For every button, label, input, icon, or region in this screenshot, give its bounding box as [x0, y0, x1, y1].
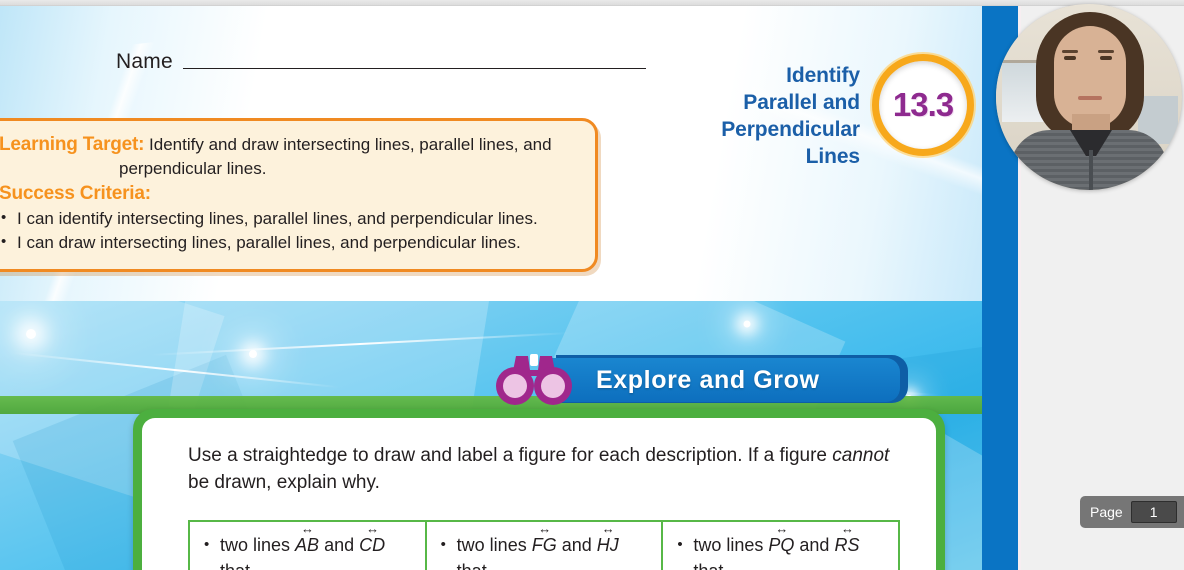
success-criteria-heading: Success Criteria:: [0, 183, 573, 205]
box-prefix: two lines: [220, 535, 295, 555]
activity-box-row: two lines AB and CD that two lines FG an…: [188, 520, 900, 570]
explore-activity-inner: Use a straightedge to draw and label a f…: [142, 418, 936, 570]
lesson-viewer: Name Identify Parallel and Perpendicular…: [0, 0, 1184, 570]
line-name-a: PQ: [768, 535, 794, 555]
lesson-number-badge: 13.3: [872, 54, 974, 156]
activity-box[interactable]: two lines FG and HJ that: [427, 522, 664, 570]
success-criteria-list: I can identify intersecting lines, paral…: [0, 207, 573, 255]
learning-target-text: Identify and draw intersecting lines, pa…: [119, 135, 552, 178]
success-criteria-item: I can draw intersecting lines, parallel …: [0, 231, 573, 255]
bg-sparkle: [249, 350, 257, 358]
bg-sparkle: [744, 321, 751, 328]
activity-box-line-continued: that: [441, 558, 654, 570]
lesson-title-line: Identify: [560, 62, 860, 89]
activity-box[interactable]: two lines AB and CD that: [190, 522, 427, 570]
box-prefix: two lines: [693, 535, 768, 555]
box-conjunction: and: [794, 535, 834, 555]
learning-target-heading: Learning Target:: [0, 134, 144, 155]
activity-instruction: Use a straightedge to draw and label a f…: [188, 442, 906, 496]
success-criteria-item: I can identify intersecting lines, paral…: [0, 207, 573, 231]
activity-box-line: two lines AB and CD: [204, 532, 417, 558]
presenter-video-avatar[interactable]: [996, 4, 1182, 190]
line-name-b: RS: [834, 535, 859, 555]
lesson-title: Identify Parallel and Perpendicular Line…: [560, 62, 860, 170]
explore-and-grow-label: Explore and Grow: [596, 366, 820, 395]
lesson-title-line: Lines: [560, 143, 860, 170]
page-label: Page: [1090, 504, 1123, 520]
worksheet-page[interactable]: Name Identify Parallel and Perpendicular…: [0, 6, 982, 570]
presenter-face: [1054, 26, 1126, 128]
line-name-a: AB: [295, 535, 319, 555]
line-name-b: HJ: [597, 535, 619, 555]
instruction-part-1: Use a straightedge to draw and label a f…: [188, 445, 832, 466]
box-conjunction: and: [557, 535, 597, 555]
page-navigation-control[interactable]: Page /: [1080, 496, 1184, 528]
lesson-number: 13.3: [893, 86, 953, 124]
activity-box[interactable]: two lines PQ and RS that: [663, 522, 898, 570]
box-conjunction: and: [319, 535, 359, 555]
activity-box-line: two lines FG and HJ: [441, 532, 654, 558]
binoculars-icon: [494, 350, 574, 406]
lesson-title-line: Perpendicular: [560, 116, 860, 143]
activity-box-line: two lines PQ and RS: [677, 532, 890, 558]
lesson-title-line: Parallel and: [560, 89, 860, 116]
name-label: Name: [116, 50, 173, 74]
presenter-eye-left: [1064, 56, 1076, 60]
presenter-eye-right: [1100, 56, 1112, 60]
presenter-brow-left: [1062, 50, 1078, 53]
line-name-b: CD: [359, 535, 385, 555]
presenter-brow-right: [1098, 50, 1114, 53]
presenter-zipper: [1089, 150, 1093, 190]
activity-box-line-continued: that: [677, 558, 890, 570]
instruction-emphasis: cannot: [832, 445, 889, 466]
activity-box-line-continued: that: [204, 558, 417, 570]
learning-target-paragraph: Learning Target: Identify and draw inter…: [0, 133, 573, 181]
learning-target-card: Learning Target: Identify and draw inter…: [0, 118, 598, 272]
bg-sparkle: [26, 329, 36, 339]
presenter-mouth: [1078, 96, 1102, 100]
instruction-part-2: be drawn, explain why.: [188, 472, 380, 493]
box-prefix: two lines: [457, 535, 532, 555]
page-number-input[interactable]: [1131, 501, 1177, 523]
line-name-a: FG: [532, 535, 557, 555]
explore-activity-card: Use a straightedge to draw and label a f…: [133, 409, 945, 570]
explore-and-grow-banner: Explore and Grow: [548, 358, 900, 402]
